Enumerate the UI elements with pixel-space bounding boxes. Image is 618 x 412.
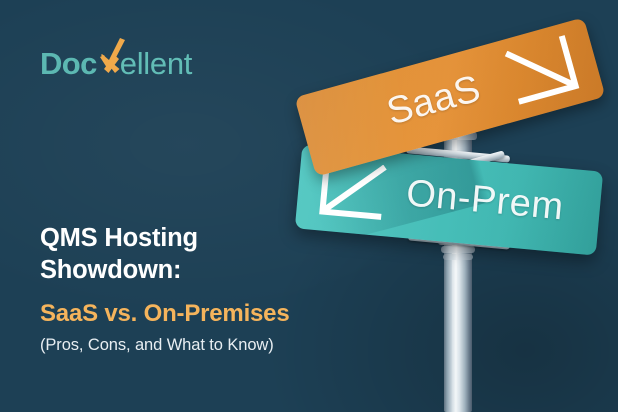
bracket-saas-bottom <box>411 150 505 182</box>
pole-collar-ring-1 <box>438 236 478 245</box>
pole-collar-ring-2 <box>441 246 475 253</box>
signpost-pole-highlight <box>452 60 457 412</box>
sign-board-saas[interactable]: SaaS <box>294 17 605 176</box>
headline-sub-line: (Pros, Cons, and What to Know) <box>40 336 370 356</box>
headline-block: QMS Hosting Showdown: SaaS vs. On-Premis… <box>40 222 370 356</box>
sign-label-on-prem: On-Prem <box>404 172 565 229</box>
pole-collar-upper <box>440 132 477 140</box>
sign-sheen-saas <box>294 17 605 176</box>
logo-check-x-icon <box>96 38 123 74</box>
pole-collar-ring-3 <box>443 254 473 260</box>
bracket-on-prem-top <box>406 146 510 162</box>
headline-line-1: QMS Hosting <box>40 222 370 254</box>
signpost-pole <box>444 60 472 412</box>
logo-text-ellent: ellent <box>120 48 192 79</box>
sign-label-saas: SaaS <box>382 68 485 135</box>
docxellent-logo[interactable]: Doc ellent <box>40 38 192 74</box>
bracket-saas-top <box>409 73 505 106</box>
arrow-down-left-icon <box>312 159 395 228</box>
arrow-down-right-icon <box>496 33 588 114</box>
bracket-on-prem-bottom <box>408 233 510 249</box>
headline-line-2: Showdown: <box>40 254 370 286</box>
graphic-canvas: Doc ellent On-Prem <box>0 0 618 412</box>
pole-finial-cap <box>442 57 474 73</box>
headline-accent-line: SaaS vs. On-Premises <box>40 300 370 329</box>
logo-text-doc: Doc <box>40 48 97 79</box>
pole-top-plate <box>424 62 493 86</box>
